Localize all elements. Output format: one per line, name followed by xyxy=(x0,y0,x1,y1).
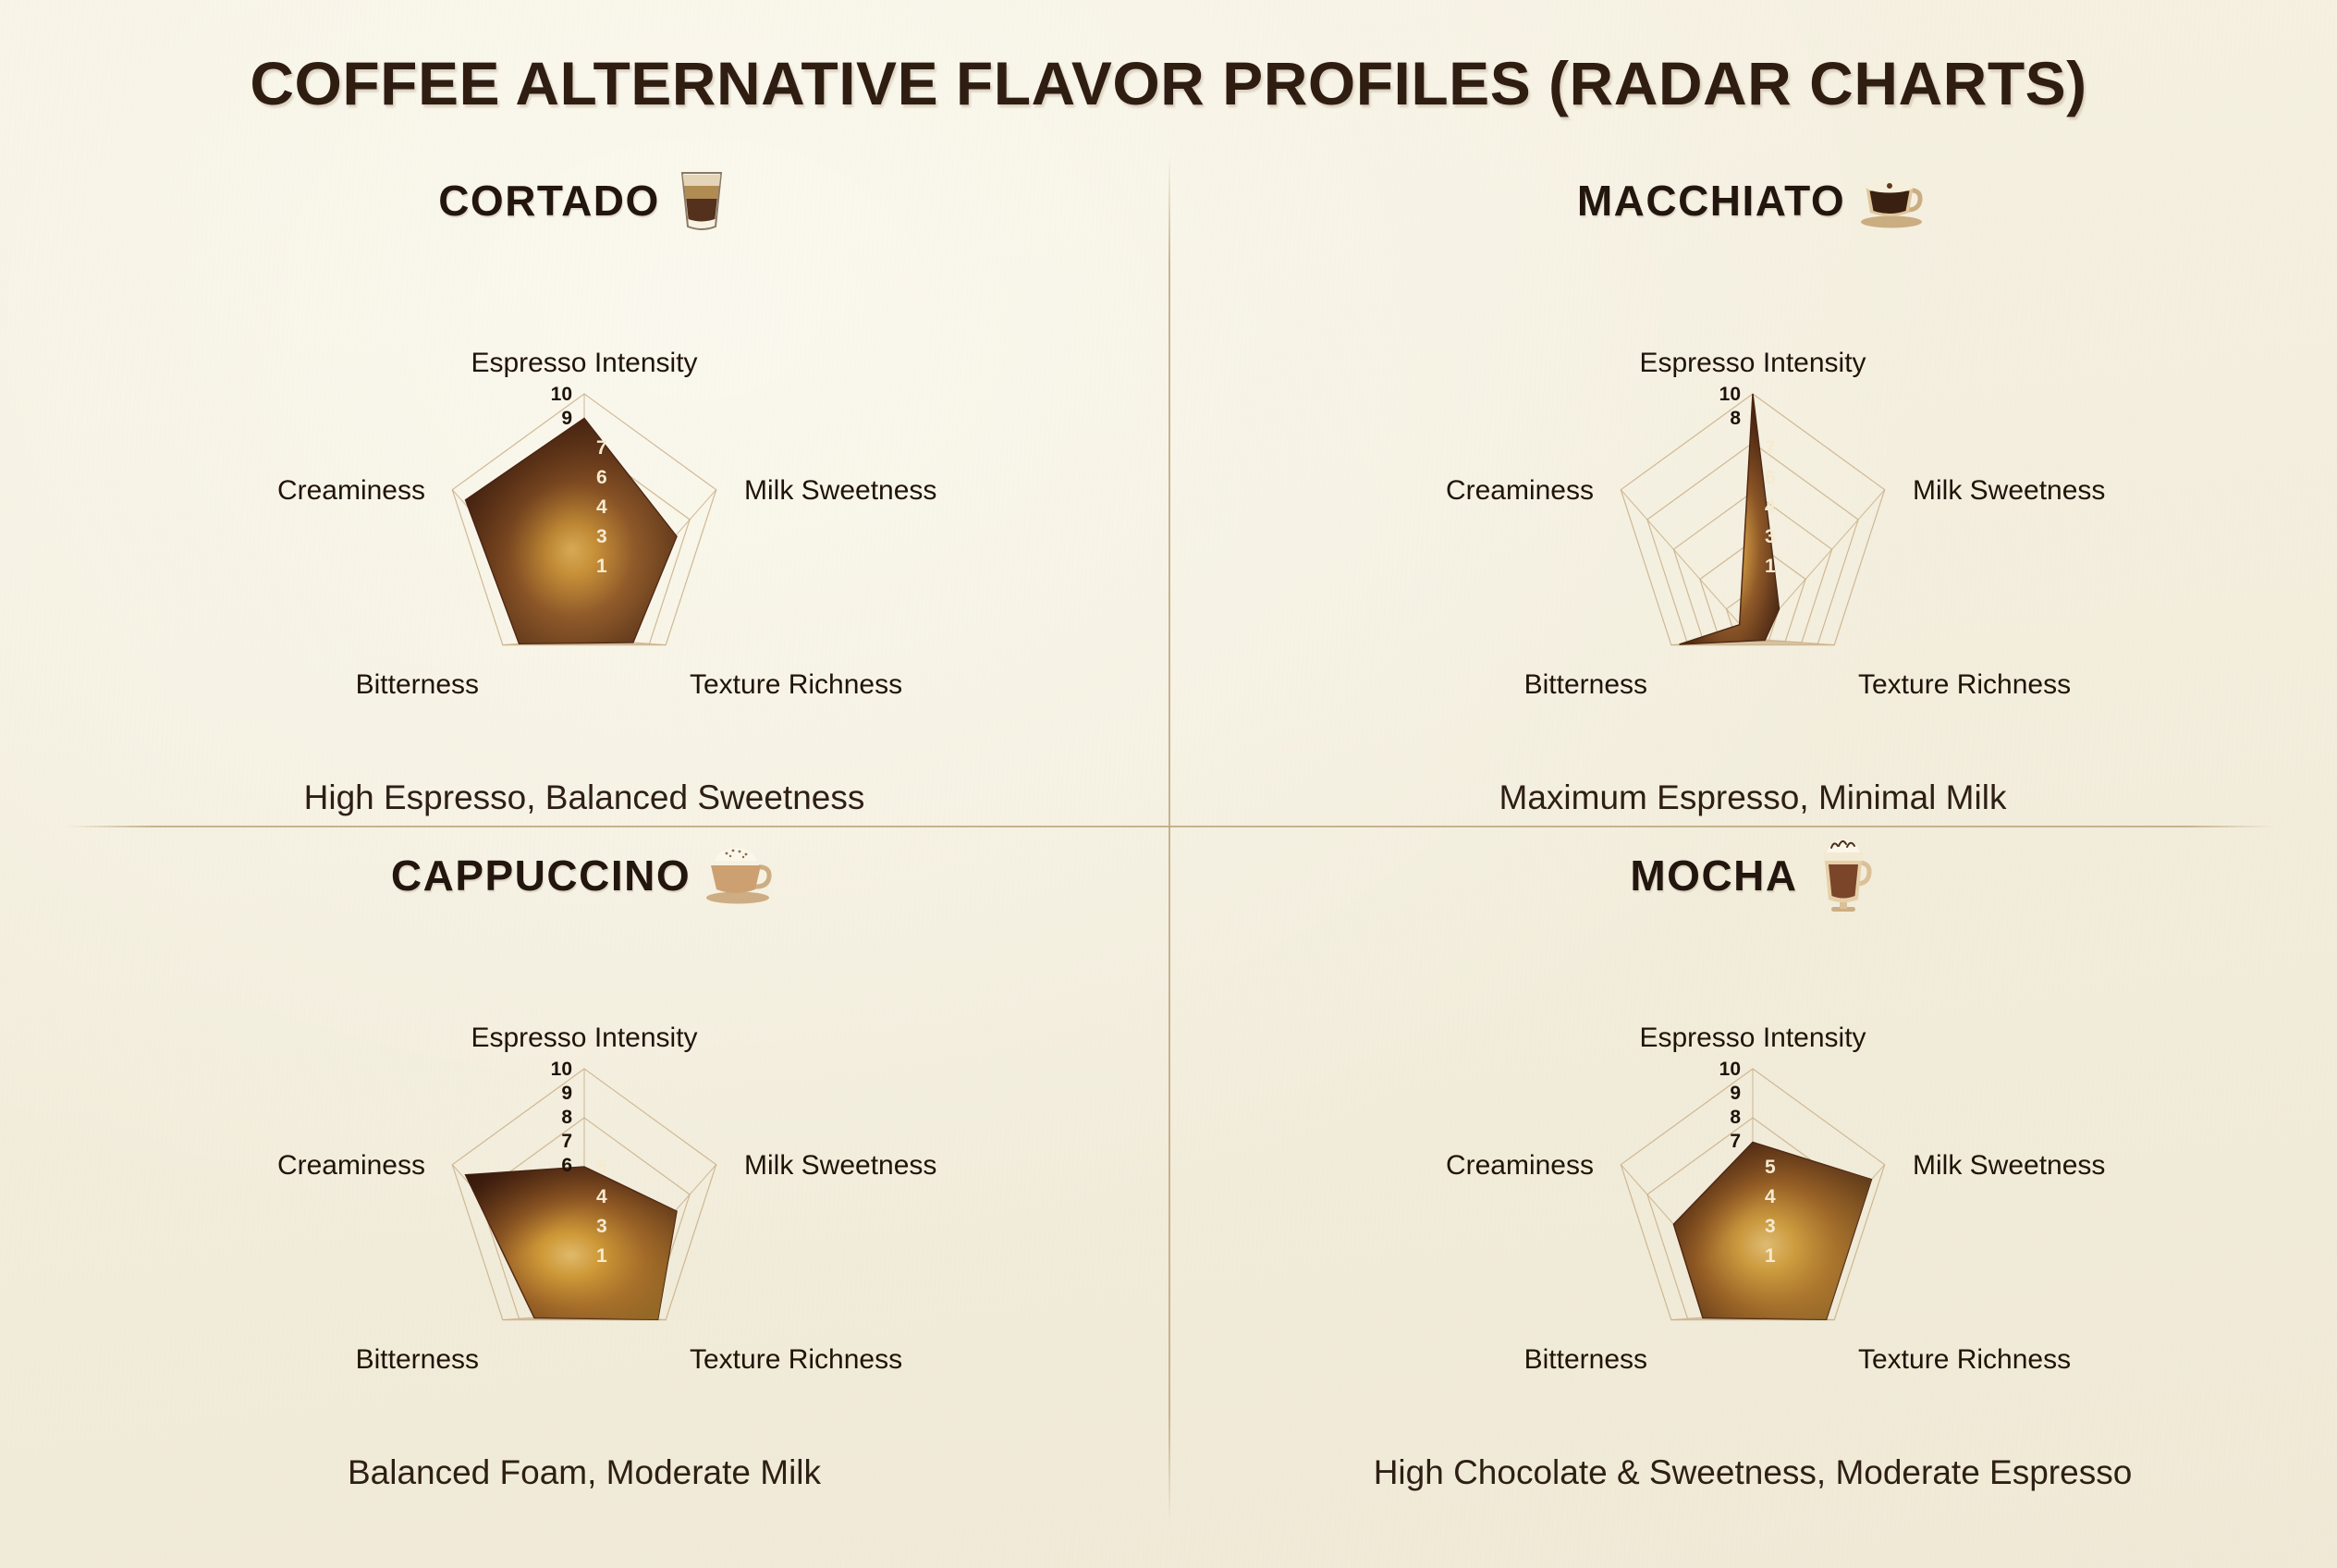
axis-label-bitterness: Bitterness xyxy=(1524,669,1647,700)
tick-label: 10 xyxy=(1719,1059,1741,1080)
axis-label-texture-richness: Texture Richness xyxy=(690,1344,902,1375)
tick-label: 7 xyxy=(1730,1131,1741,1152)
radar-series-cappuccino xyxy=(466,1167,677,1319)
axis-label-espresso-intensity: Espresso Intensity xyxy=(1639,348,1866,378)
axis-label-creaminess: Creaminess xyxy=(277,475,425,506)
axis-label-milk-sweetness: Milk Sweetness xyxy=(744,1150,936,1181)
tick-label: 6 xyxy=(561,1155,572,1176)
page-title: COFFEE ALTERNATIVE FLAVOR PROFILES (RADA… xyxy=(0,48,2337,118)
axis-label-creaminess: Creaminess xyxy=(277,1150,425,1181)
panel-title-cortado: CORTADO xyxy=(438,176,660,226)
tick-label: 4 xyxy=(1765,496,1776,518)
axis-label-creaminess: Creaminess xyxy=(1446,1150,1594,1181)
axis-label-creaminess: Creaminess xyxy=(1446,475,1594,506)
panel-caption-cortado: High Espresso, Balanced Sweetness xyxy=(0,778,1168,817)
tick-label: 1 xyxy=(596,1245,607,1267)
tick-label: 8 xyxy=(1730,408,1741,429)
axis-label-espresso-intensity: Espresso Intensity xyxy=(471,348,697,378)
tick-label: 5 xyxy=(1765,1157,1776,1178)
axis-label-milk-sweetness: Milk Sweetness xyxy=(1913,475,2105,506)
radar-chart-macchiato: Espresso Intensity Milk Sweetness Textur… xyxy=(1168,222,2337,758)
tick-label: 9 xyxy=(1730,1083,1741,1104)
axis-label-bitterness: Bitterness xyxy=(1524,1344,1647,1375)
panel-caption-cappuccino: Balanced Foam, Moderate Milk xyxy=(0,1453,1168,1492)
axis-label-milk-sweetness: Milk Sweetness xyxy=(1913,1150,2105,1181)
tick-label: 6 xyxy=(596,467,607,488)
axis-label-texture-richness: Texture Richness xyxy=(690,669,902,700)
tick-label: 8 xyxy=(1730,1107,1741,1128)
tick-label: 1 xyxy=(1765,556,1776,577)
tick-label: 7 xyxy=(1765,437,1776,459)
tick-label: 4 xyxy=(596,496,607,518)
axis-label-bitterness: Bitterness xyxy=(356,1344,479,1375)
panel-caption-mocha: High Chocolate & Sweetness, Moderate Esp… xyxy=(1168,1453,2337,1492)
tick-label: 3 xyxy=(596,1216,607,1237)
tick-label: 9 xyxy=(561,1083,572,1104)
panel-title-macchiato: MACCHIATO xyxy=(1577,176,1845,226)
radar-chart-mocha: Espresso Intensity Milk Sweetness Textur… xyxy=(1168,897,2337,1433)
tick-label: 3 xyxy=(1765,526,1776,547)
tick-label: 8 xyxy=(561,1107,572,1128)
tick-label: 3 xyxy=(1765,1216,1776,1237)
axis-label-milk-sweetness: Milk Sweetness xyxy=(744,475,936,506)
axis-label-espresso-intensity: Espresso Intensity xyxy=(471,1023,697,1053)
chart-panel-cortado: CORTADO xyxy=(0,155,1168,830)
tick-label: 10 xyxy=(1719,384,1741,405)
axis-label-texture-richness: Texture Richness xyxy=(1858,1344,2071,1375)
panel-title-mocha: MOCHA xyxy=(1630,851,1797,900)
tick-label: 1 xyxy=(1765,1245,1776,1267)
tick-label: 7 xyxy=(596,437,607,459)
tick-label: 7 xyxy=(561,1131,572,1152)
panel-caption-macchiato: Maximum Espresso, Minimal Milk xyxy=(1168,778,2337,817)
tick-label: 6 xyxy=(1765,467,1776,488)
radar-series-cortado xyxy=(466,419,677,644)
tick-label: 4 xyxy=(1765,1186,1776,1207)
panel-title-cappuccino: CAPPUCCINO xyxy=(391,851,691,900)
tick-label: 10 xyxy=(551,384,572,405)
chart-panel-macchiato: MACCHIATO xyxy=(1168,155,2337,830)
tick-label: 3 xyxy=(596,526,607,547)
tick-label: 4 xyxy=(596,1186,607,1207)
axis-label-espresso-intensity: Espresso Intensity xyxy=(1639,1023,1866,1053)
axis-label-texture-richness: Texture Richness xyxy=(1858,669,2071,700)
radar-chart-cappuccino: Espresso Intensity Milk Sweetness Textur… xyxy=(0,897,1168,1433)
tick-label: 5 xyxy=(596,1157,607,1178)
chart-panel-mocha: MOCHA xyxy=(1168,830,2337,1505)
chart-panel-cappuccino: CAPPUCCINO xyxy=(0,830,1168,1505)
tick-label: 1 xyxy=(596,556,607,577)
axis-label-bitterness: Bitterness xyxy=(356,669,479,700)
tick-label: 9 xyxy=(561,408,572,429)
radar-chart-cortado: Espresso Intensity Milk Sweetness Textur… xyxy=(0,222,1168,758)
tick-label: 10 xyxy=(551,1059,572,1080)
